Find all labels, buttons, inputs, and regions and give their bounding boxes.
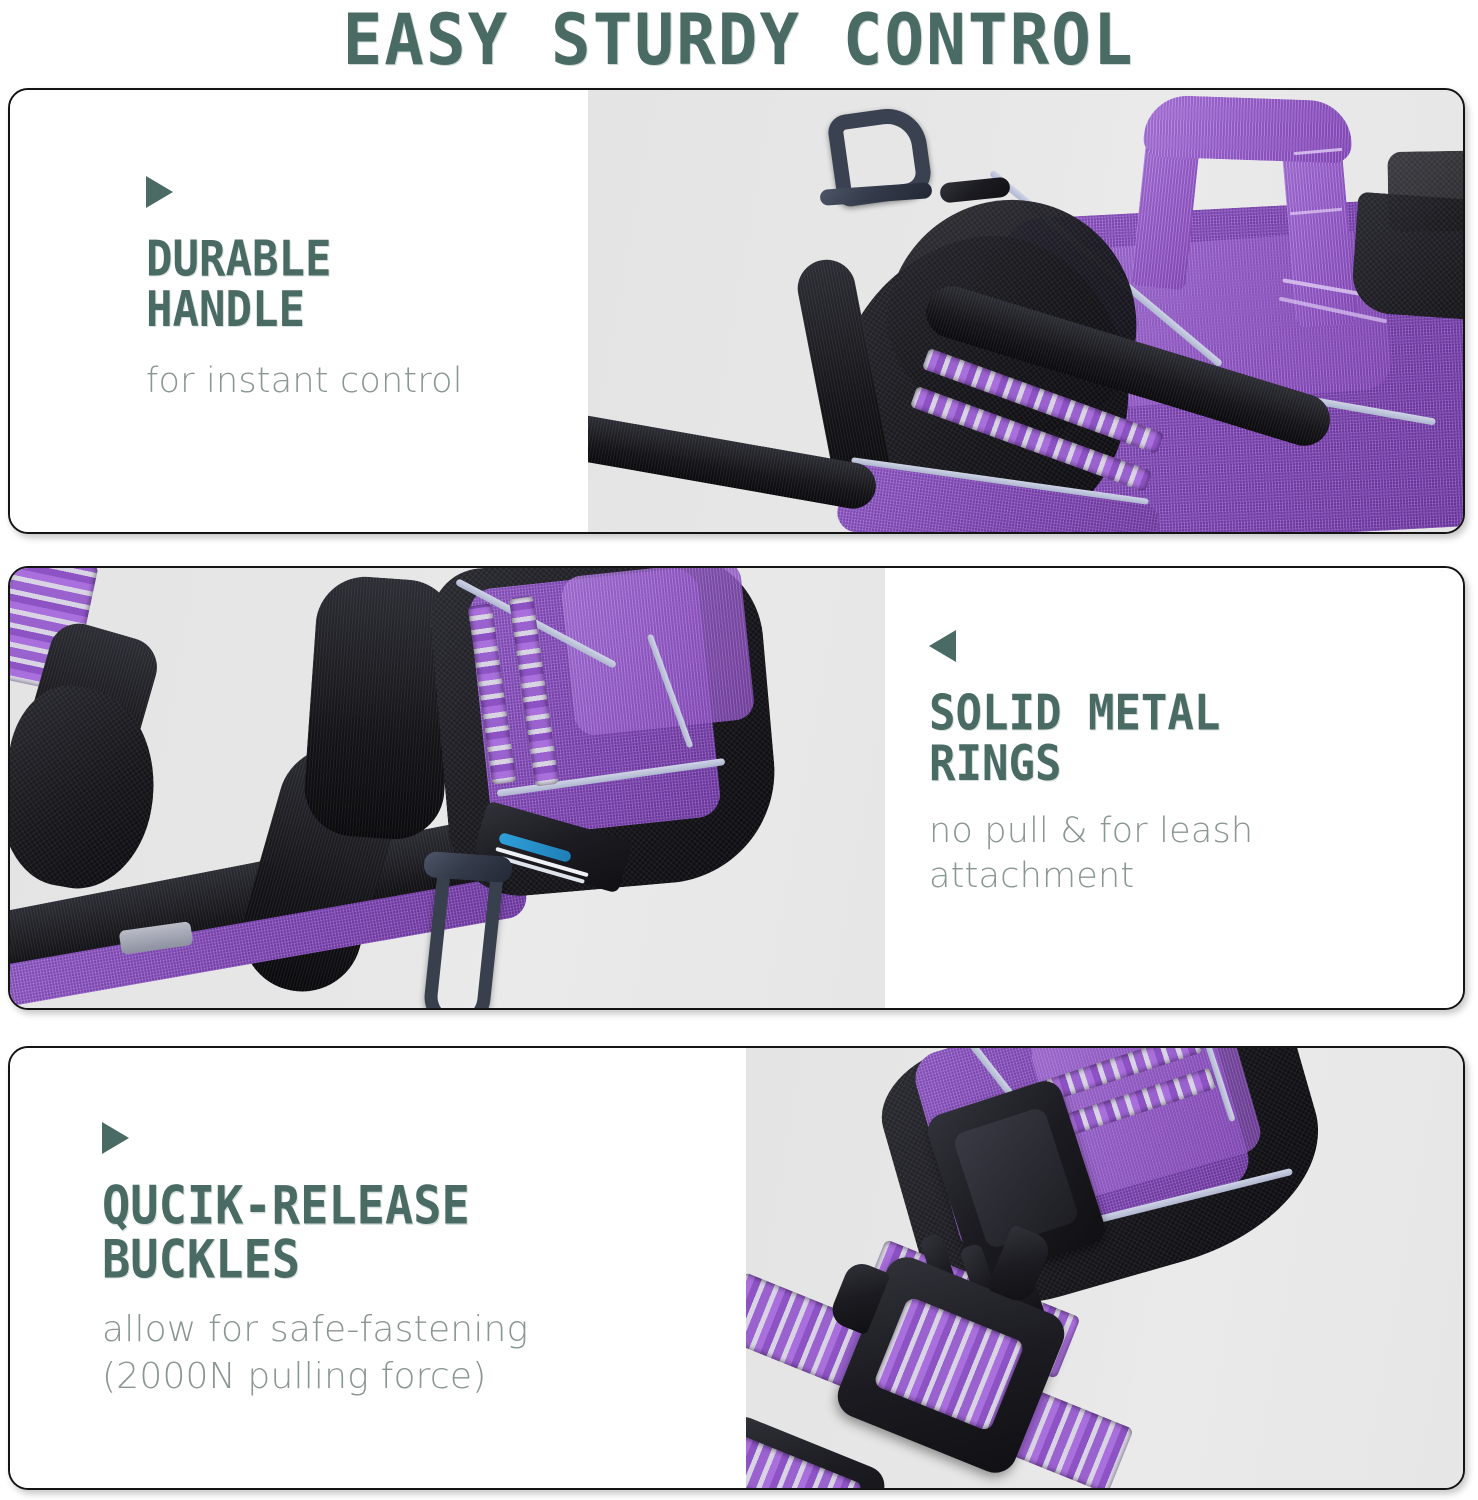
triangle-right-icon	[102, 1122, 129, 1154]
feature-subtitle: no pull & for leash attachment	[929, 809, 1463, 900]
feature-heading: SOLID METAL RINGS	[929, 688, 1463, 790]
feature-heading: QUCIK-RELEASE BUCKLES	[102, 1180, 746, 1288]
feature-panel-solid-metal-rings: SOLID METAL RINGS no pull & for leash at…	[8, 566, 1465, 1010]
product-photo-quick-release-buckles	[746, 1048, 1463, 1488]
panel-layout: QUCIK-RELEASE BUCKLES allow for safe-fas…	[10, 1048, 1463, 1488]
feature-subtitle: allow for safe-fastening (2000N pulling …	[102, 1307, 746, 1401]
panel-text-block: QUCIK-RELEASE BUCKLES allow for safe-fas…	[10, 1048, 746, 1488]
panel-text-block: DURABLE HANDLE for instant control	[10, 90, 588, 532]
feature-panel-durable-handle: DURABLE HANDLE for instant control	[8, 88, 1465, 534]
triangle-left-icon	[929, 630, 956, 662]
panel-text-block: SOLID METAL RINGS no pull & for leash at…	[885, 568, 1463, 1008]
feature-subtitle: for instant control	[146, 359, 588, 405]
panel-layout: DURABLE HANDLE for instant control	[10, 90, 1463, 532]
product-photo-solid-metal-rings	[10, 568, 885, 1008]
panel-layout: SOLID METAL RINGS no pull & for leash at…	[10, 568, 1463, 1008]
product-photo-durable-handle	[588, 90, 1463, 532]
feature-heading: DURABLE HANDLE	[146, 234, 588, 336]
header-title-bar: EASY STURDY CONTROL	[0, 0, 1478, 78]
page-title: EASY STURDY CONTROL	[343, 0, 1135, 81]
triangle-right-icon	[146, 176, 173, 208]
feature-panel-quick-release-buckles: QUCIK-RELEASE BUCKLES allow for safe-fas…	[8, 1046, 1465, 1490]
